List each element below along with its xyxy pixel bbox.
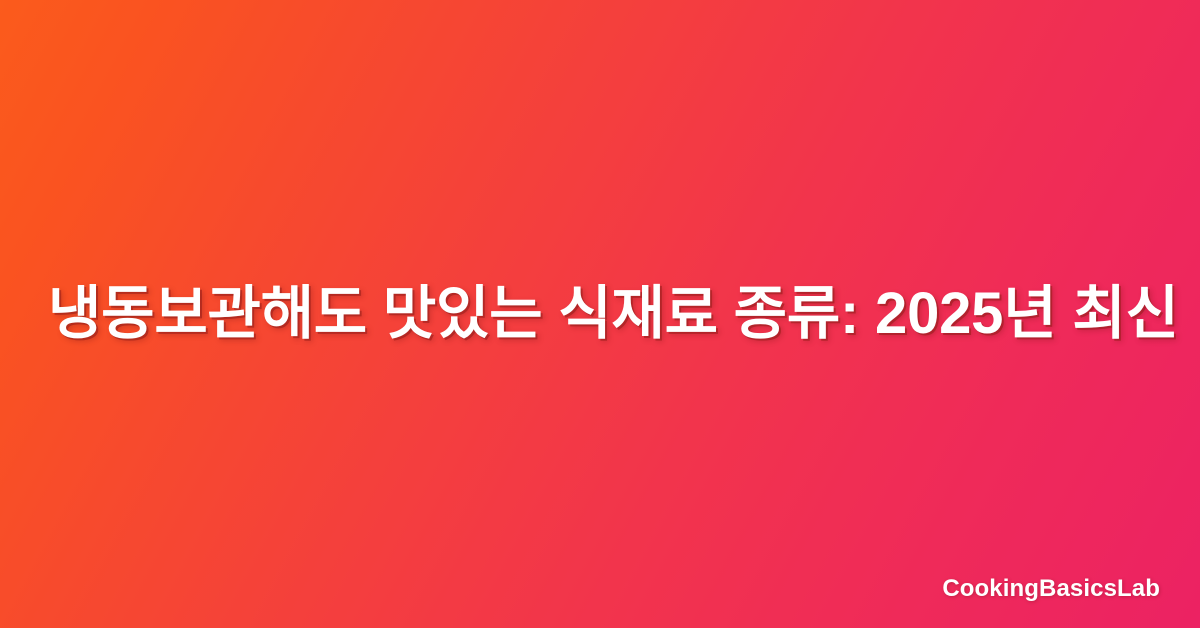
brand-watermark: CookingBasicsLab <box>942 575 1160 604</box>
title-container: 냉동보관해도 맛있는 식재료 종류: 2025년 최신 <box>0 0 1200 628</box>
og-card: 냉동보관해도 맛있는 식재료 종류: 2025년 최신 CookingBasic… <box>0 0 1200 628</box>
page-title: 냉동보관해도 맛있는 식재료 종류: 2025년 최신 <box>48 277 1152 351</box>
